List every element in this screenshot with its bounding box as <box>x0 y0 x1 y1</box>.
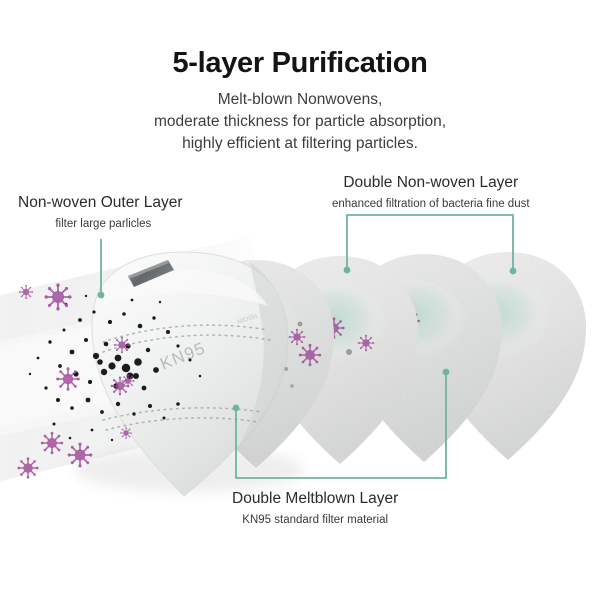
annotation-double-nonwoven: Double Non-woven Layer enhanced filtrati… <box>332 174 530 211</box>
annotation-outer-layer-title: Non-woven Outer Layer <box>18 194 183 213</box>
header-block: 5-layer Purification Melt-blown Nonwoven… <box>0 48 600 155</box>
kn95-mask: KN95 NIOSH <box>75 252 305 496</box>
annotation-double-nonwoven-subtitle: enhanced filtration of bacteria fine dus… <box>332 198 530 212</box>
subtitle-line-1: Melt-blown Nonwovens, <box>0 89 600 111</box>
annotation-outer-layer-subtitle: filter large parlicles <box>18 218 183 232</box>
infographic-canvas: KN95 NIOSH <box>0 0 600 600</box>
subtitle-line-3: highly efficient at filtering particles. <box>0 133 600 155</box>
annotation-double-meltblown: Double Meltblown Layer KN95 standard fil… <box>232 490 398 527</box>
subtitle-line-2: moderate thickness for particle absorpti… <box>0 111 600 133</box>
annotation-double-nonwoven-title: Double Non-woven Layer <box>332 174 530 193</box>
annotation-double-meltblown-subtitle: KN95 standard filter material <box>232 514 398 528</box>
page-subtitle: Melt-blown Nonwovens, moderate thickness… <box>0 89 600 155</box>
annotation-double-meltblown-title: Double Meltblown Layer <box>232 490 398 509</box>
annotation-outer-layer: Non-woven Outer Layer filter large parli… <box>18 194 183 231</box>
page-title: 5-layer Purification <box>0 48 600 80</box>
